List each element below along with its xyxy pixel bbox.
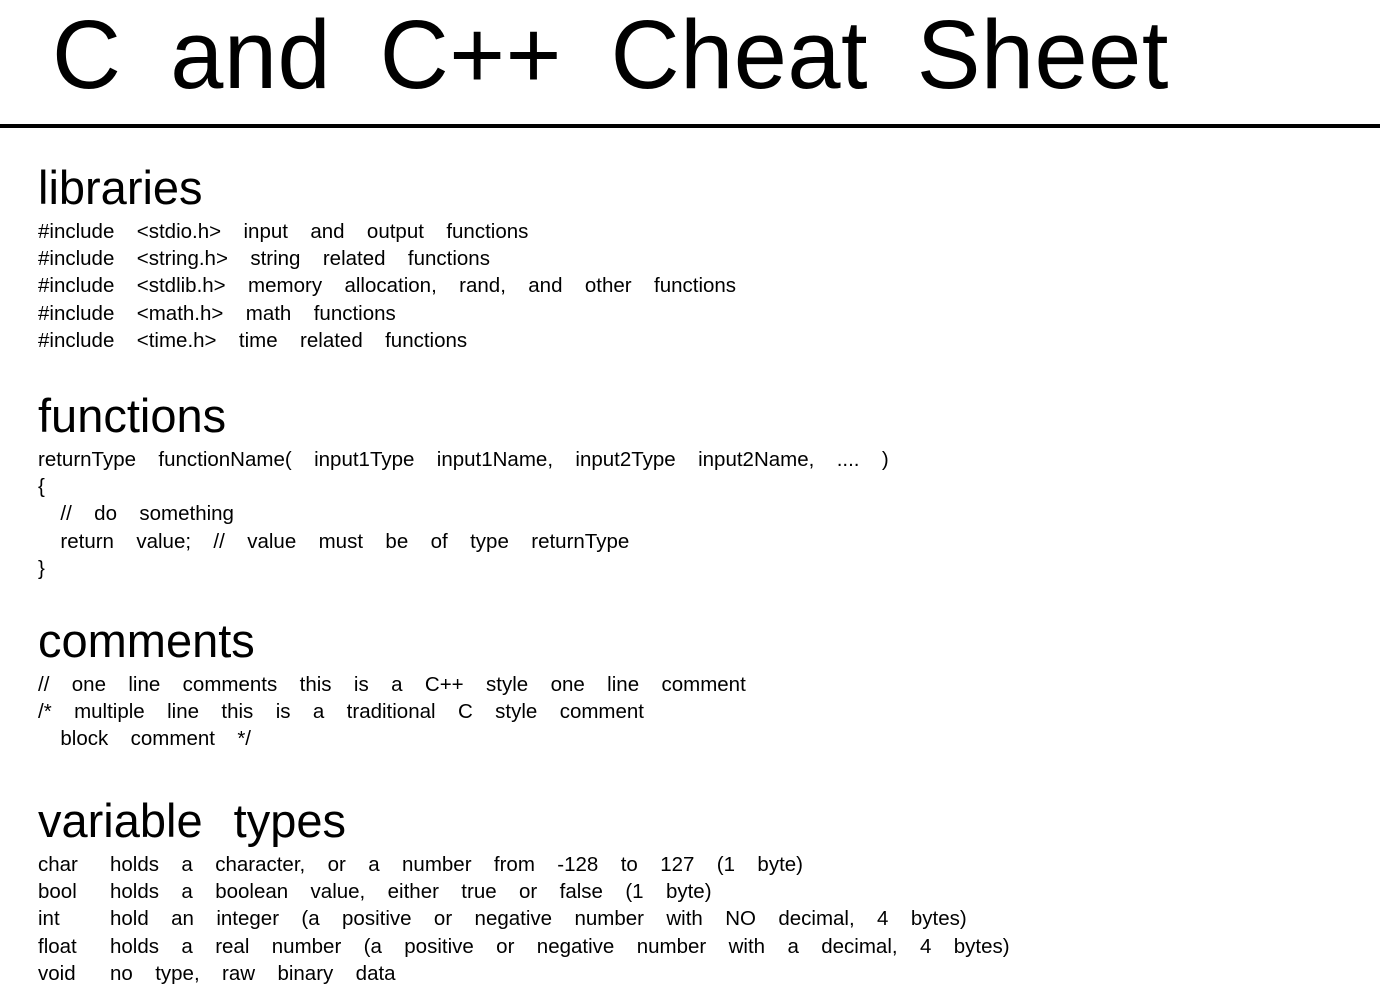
variable-type-description: hold an integer (a positive or negative … — [110, 905, 1010, 932]
section-functions: functions returnType functionName( input… — [38, 391, 889, 582]
code-line: // do something — [38, 500, 889, 527]
code-line: /* multiple line this is a traditional C… — [38, 698, 746, 725]
variable-type-row: void no type, raw binary data — [38, 960, 1010, 987]
code-line: { — [38, 473, 889, 500]
variable-type-description: holds a character, or a number from -128… — [110, 851, 1010, 878]
title-divider — [0, 124, 1380, 128]
section-body-functions: returnType functionName( input1Type inpu… — [38, 446, 889, 582]
variable-type-name: int — [38, 905, 110, 932]
section-heading-functions: functions — [38, 391, 889, 441]
code-line: #include <stdlib.h> memory allocation, r… — [38, 272, 736, 299]
variable-type-row: int hold an integer (a positive or negat… — [38, 905, 1010, 932]
section-body-comments: // one line comments this is a C++ style… — [38, 671, 746, 753]
variable-type-name: bool — [38, 878, 110, 905]
section-variable-types: variable types char holds a character, o… — [38, 796, 1010, 987]
title-block: C and C++ Cheat Sheet — [0, 0, 1380, 128]
page-title: C and C++ Cheat Sheet — [52, 3, 1169, 107]
variable-type-description: holds a real number (a positive or negat… — [110, 933, 1010, 960]
variable-type-description: holds a boolean value, either true or fa… — [110, 878, 1010, 905]
section-heading-comments: comments — [38, 616, 746, 666]
section-comments: comments // one line comments this is a … — [38, 616, 746, 753]
section-body-libraries: #include <stdio.h> input and output func… — [38, 218, 736, 354]
variable-type-name: float — [38, 933, 110, 960]
variable-type-row: bool holds a boolean value, either true … — [38, 878, 1010, 905]
variable-type-row: char holds a character, or a number from… — [38, 851, 1010, 878]
section-body-variable-types: char holds a character, or a number from… — [38, 851, 1010, 987]
variable-type-name: char — [38, 851, 110, 878]
code-line: block comment */ — [38, 725, 746, 752]
variable-type-description: no type, raw binary data — [110, 960, 1010, 987]
code-line: return value; // value must be of type r… — [38, 528, 889, 555]
code-line: returnType functionName( input1Type inpu… — [38, 446, 889, 473]
code-line: } — [38, 555, 889, 582]
variable-type-row: float holds a real number (a positive or… — [38, 933, 1010, 960]
code-line: #include <stdio.h> input and output func… — [38, 218, 736, 245]
code-line: #include <math.h> math functions — [38, 300, 736, 327]
cheat-sheet-page: C and C++ Cheat Sheet libraries #include… — [0, 0, 1380, 1000]
section-libraries: libraries #include <stdio.h> input and o… — [38, 163, 736, 354]
code-line: #include <time.h> time related functions — [38, 327, 736, 354]
code-line: #include <string.h> string related funct… — [38, 245, 736, 272]
section-heading-variable-types: variable types — [38, 796, 1010, 846]
code-line: // one line comments this is a C++ style… — [38, 671, 746, 698]
variable-type-name: void — [38, 960, 110, 987]
section-heading-libraries: libraries — [38, 163, 736, 213]
